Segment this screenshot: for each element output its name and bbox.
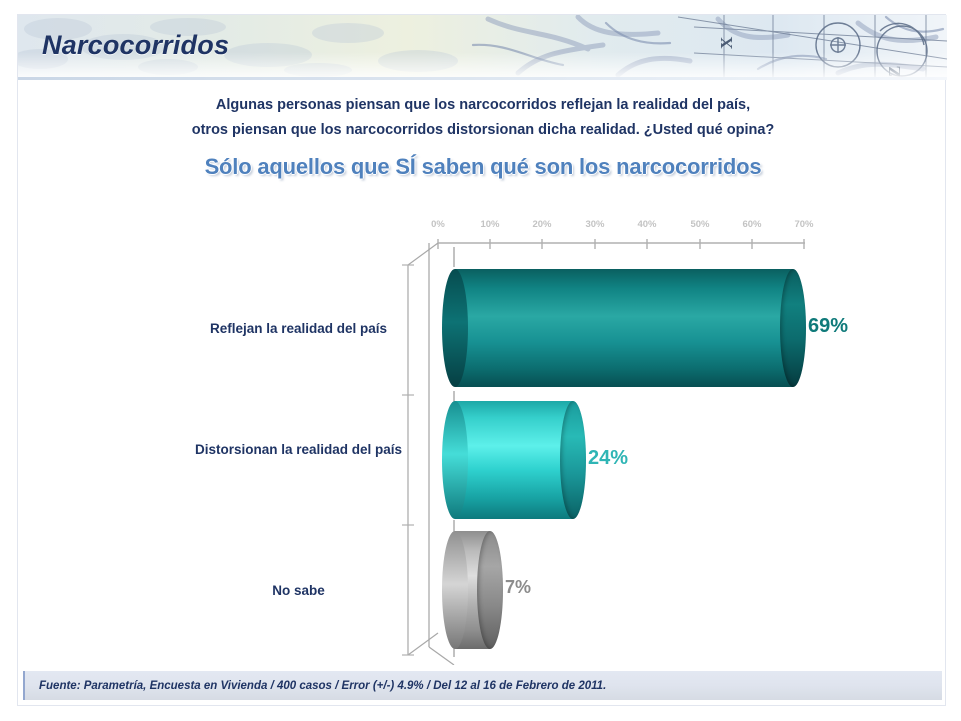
bar-body <box>455 401 573 519</box>
category-label-no-sabe: No sabe <box>181 581 416 600</box>
slide-title: Narcocorridos <box>42 30 229 61</box>
bar-cap-left <box>442 401 468 519</box>
chart-subtitle: Sólo aquellos que SÍ saben qué son los n… <box>78 154 888 180</box>
bar-body <box>455 269 793 387</box>
x-tick-10: 10% <box>470 219 510 230</box>
bar-no-sabe[interactable] <box>455 531 490 649</box>
bar-cap-right <box>560 401 586 519</box>
category-label-distorsionan: Distorsionan la realidad del país <box>181 440 416 459</box>
header-banner: X Z Narcocorridos <box>18 15 947 79</box>
x-tick-50: 50% <box>680 219 720 230</box>
x-tick-30: 30% <box>575 219 615 230</box>
category-label-reflejan: Reflejan la realidad del país <box>181 319 416 338</box>
x-tick-0: 0% <box>418 219 458 230</box>
bar-reflejan[interactable] <box>455 269 793 387</box>
bar-cap-right <box>477 531 503 649</box>
x-tick-40: 40% <box>627 219 667 230</box>
bar-chart: 0% 10% 20% 30% 40% 50% 60% 70% 69% 24% 7… <box>18 195 947 665</box>
value-label-reflejan: 69% <box>808 315 848 338</box>
x-tick-20: 20% <box>522 219 562 230</box>
question-line-1: Algunas personas piensan que los narcoco… <box>78 93 888 118</box>
header-divider <box>18 77 947 80</box>
slide: X Z Narcocorridos Algunas personas piens… <box>17 14 946 706</box>
question-text: Algunas personas piensan que los narcoco… <box>78 93 888 143</box>
value-label-distorsionan: 24% <box>588 447 628 470</box>
source-footer: Fuente: Parametría, Encuesta en Vivienda… <box>23 671 942 700</box>
bar-cap-left <box>442 531 468 649</box>
bar-cap-left <box>442 269 468 387</box>
bar-distorsionan[interactable] <box>455 401 573 519</box>
source-text: Fuente: Parametría, Encuesta en Vivienda… <box>39 680 606 692</box>
value-label-no-sabe: 7% <box>505 577 531 598</box>
question-line-2: otros piensan que los narcocorridos dist… <box>78 118 888 143</box>
bar-cap-right <box>780 269 806 387</box>
x-tick-60: 60% <box>732 219 772 230</box>
x-tick-70: 70% <box>784 219 824 230</box>
